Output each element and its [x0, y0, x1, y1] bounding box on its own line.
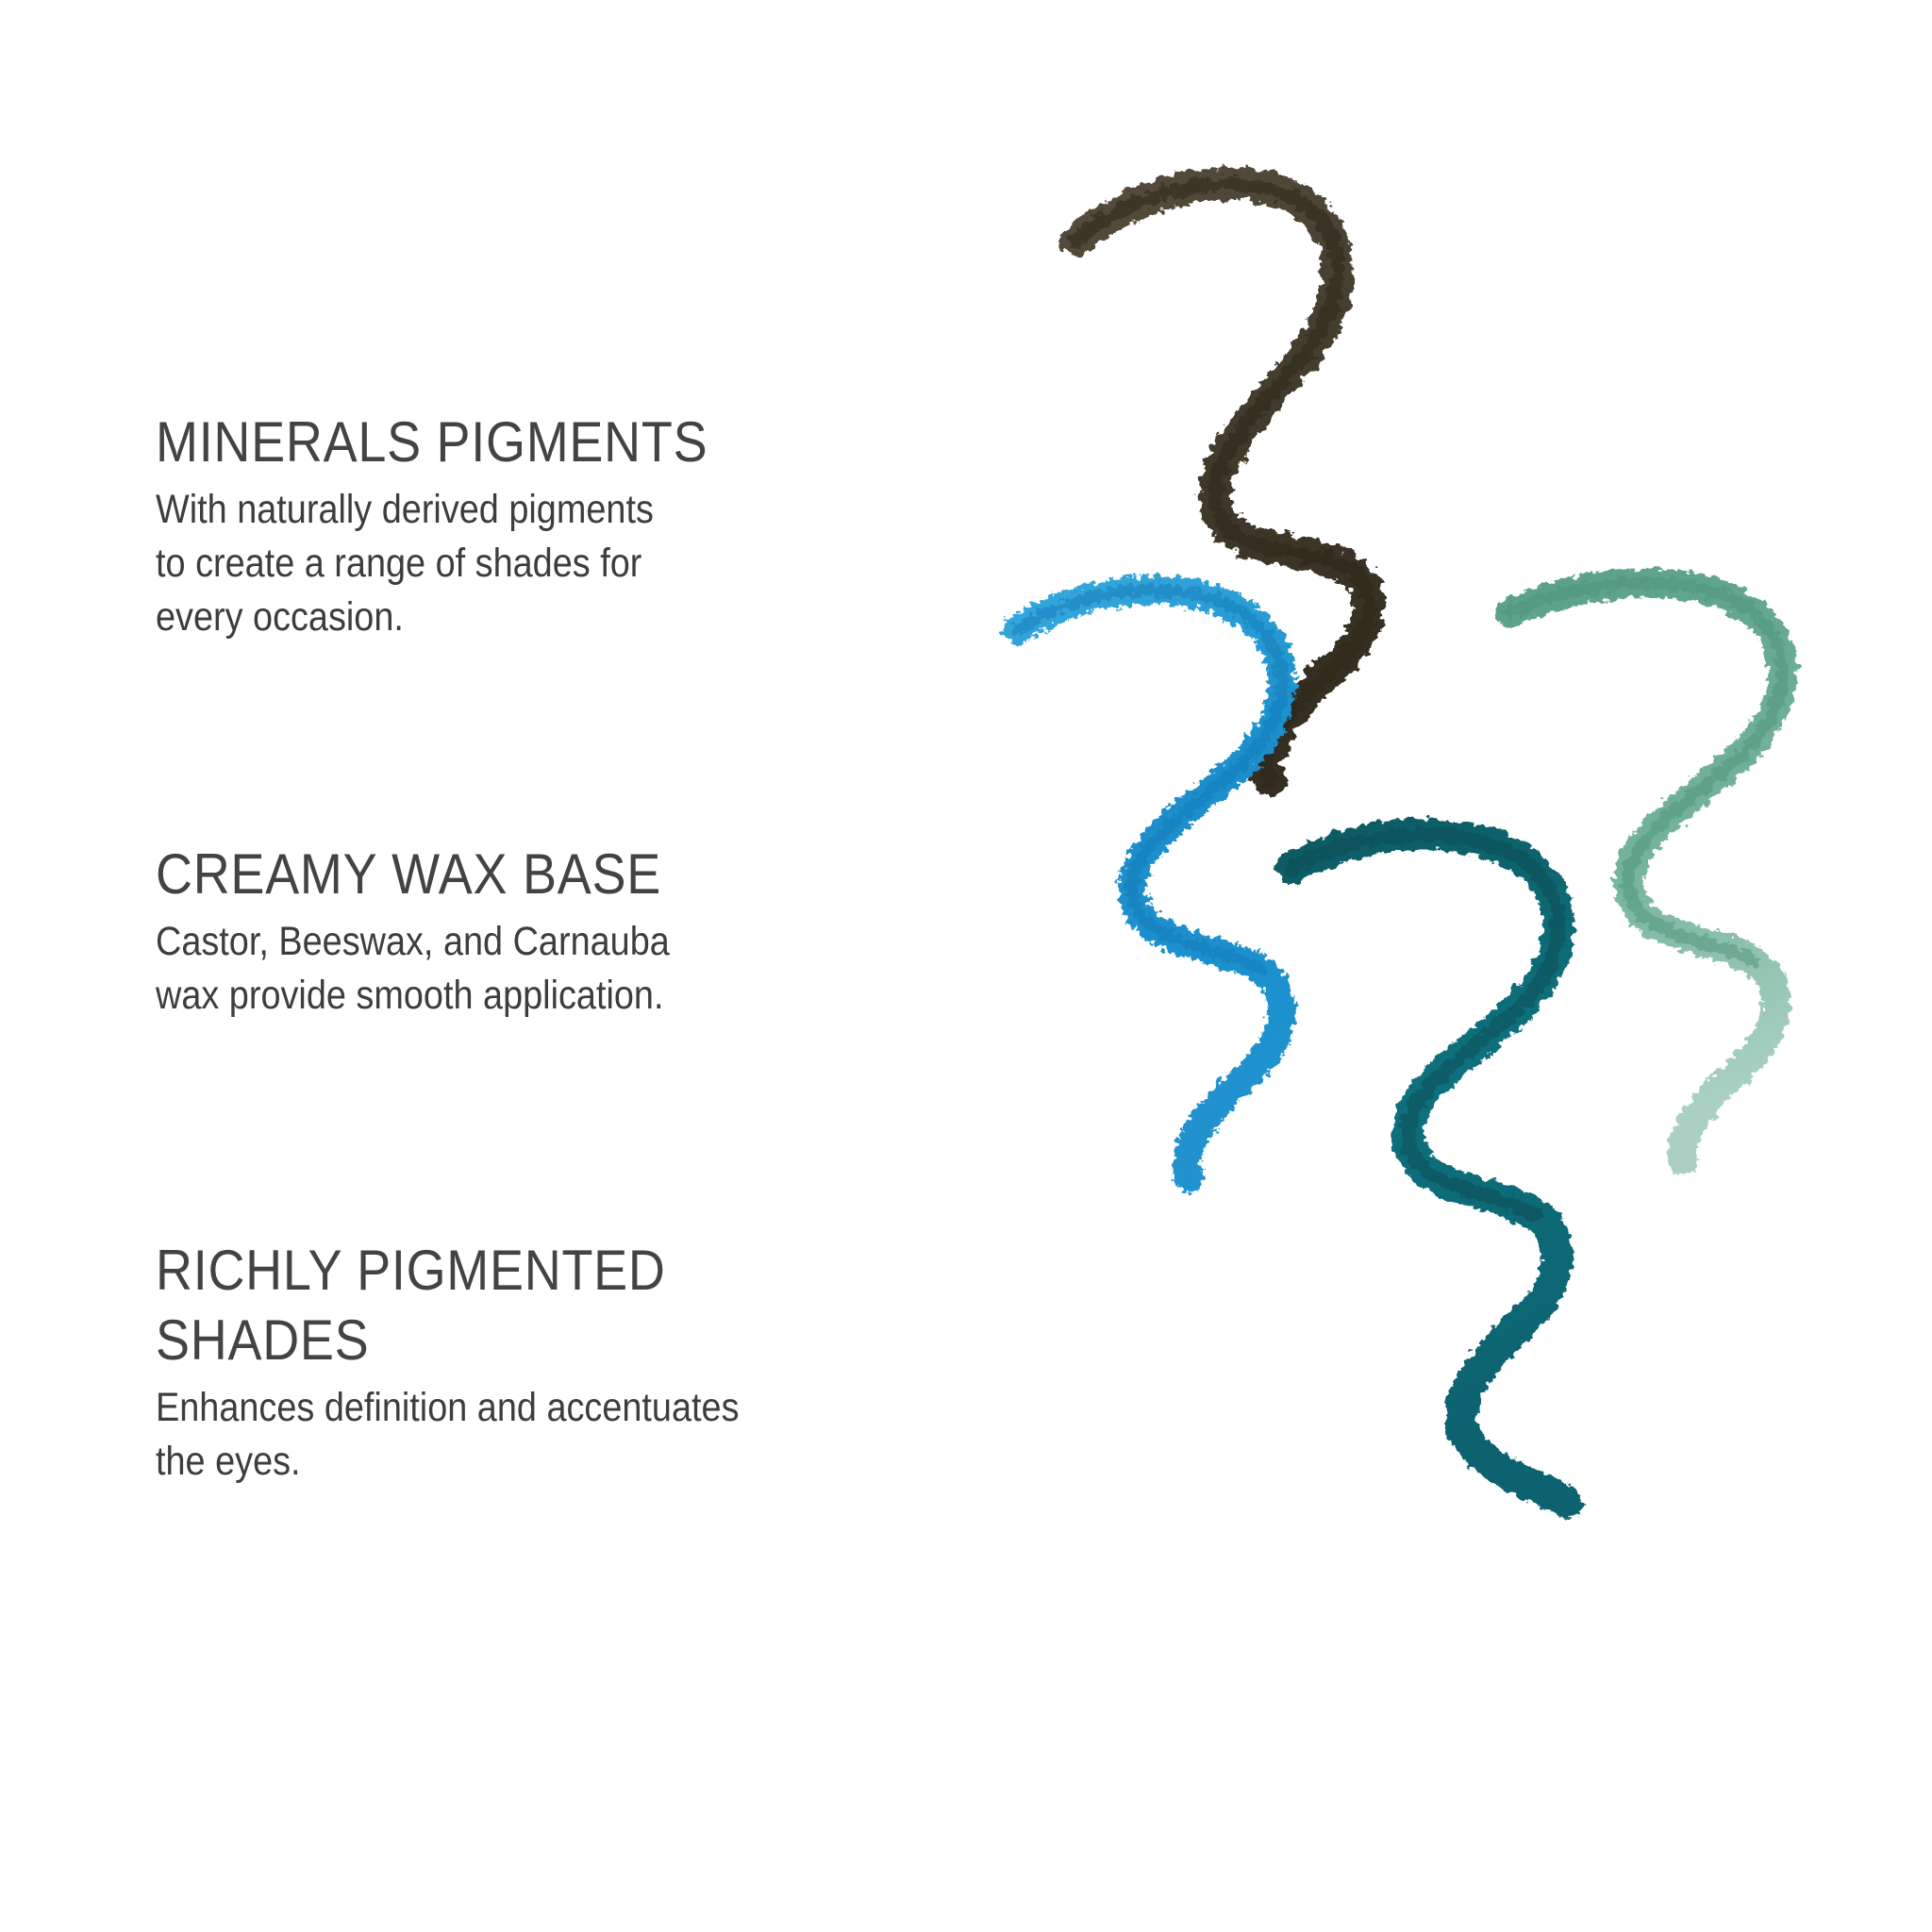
swatch-illustration	[1000, 142, 1906, 1745]
feature-block-minerals-pigments: MINERALS PIGMENTS With naturally derived…	[156, 408, 1005, 644]
swatch-gallery	[1000, 142, 1906, 1745]
dark-brown-swatch	[1075, 184, 1369, 781]
feature-description: With naturally derived pigments to creat…	[156, 483, 903, 644]
feature-block-creamy-wax-base: CREAMY WAX BASE Castor, Beeswax, and Car…	[156, 840, 1005, 1023]
feature-block-richly-pigmented-shades: RICHLY PIGMENTED SHADES Enhances definit…	[156, 1236, 1005, 1489]
feature-title: MINERALS PIGMENTS	[156, 408, 920, 477]
feature-description: Castor, Beeswax, and Carnauba wax provid…	[156, 915, 903, 1023]
feature-title: CREAMY WAX BASE	[156, 840, 920, 909]
feature-description: Enhances definition and accentuates the …	[156, 1381, 903, 1489]
feature-title: RICHLY PIGMENTED SHADES	[156, 1236, 920, 1375]
infographic-canvas: MINERALS PIGMENTS With naturally derived…	[0, 0, 1932, 1932]
bright-blue-swatch	[1017, 591, 1282, 1177]
feature-list: MINERALS PIGMENTS With naturally derived…	[156, 0, 1005, 1932]
deep-teal-swatch	[1292, 834, 1566, 1502]
